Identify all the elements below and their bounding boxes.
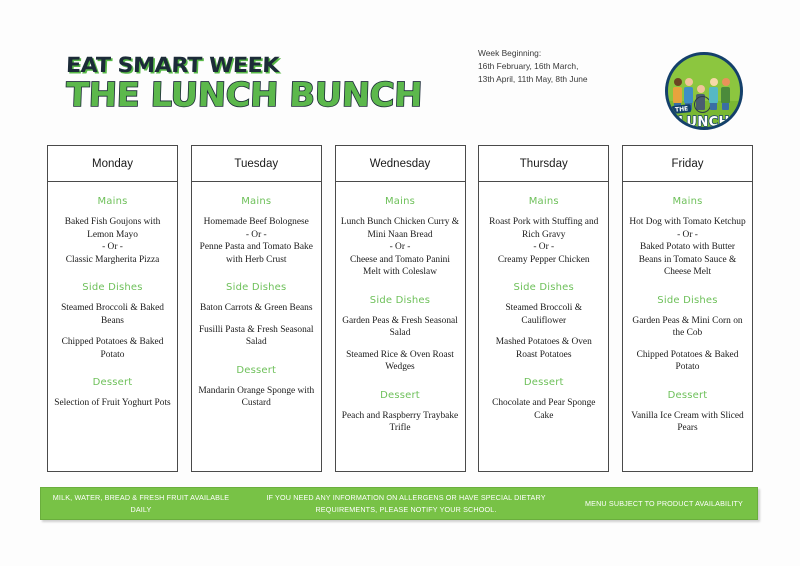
day-header-thursday: Thursday xyxy=(479,146,608,182)
or-separator: - Or - xyxy=(246,230,267,240)
main-dish-1-text: Homemade Beef Bolognese xyxy=(204,217,309,227)
main-dish-1-text: Hot Dog with Tomato Ketchup xyxy=(629,217,745,227)
dessert-item-1: Peach and Raspberry Traybake Trifle xyxy=(341,410,460,435)
side-dish-1: Garden Peas & Fresh Seasonal Salad xyxy=(341,315,460,340)
main-dish-2-text: Classic Margherita Pizza xyxy=(66,255,160,265)
main-dish-2-text: Creamy Pepper Chicken xyxy=(498,255,590,265)
day-header-monday: Monday xyxy=(48,146,177,182)
main-dish-option-1: Hot Dog with Tomato Ketchup - Or - Baked… xyxy=(628,216,747,279)
section-heading-sides: Side Dishes xyxy=(197,282,316,293)
or-separator: - Or - xyxy=(390,242,411,252)
or-separator: - Or - xyxy=(677,230,698,240)
section-heading-mains: Mains xyxy=(341,196,460,207)
day-body-friday: Mains Hot Dog with Tomato Ketchup - Or -… xyxy=(623,182,752,471)
day-header-wednesday: Wednesday xyxy=(336,146,465,182)
side-dish-2: Chipped Potatoes & Baked Potato xyxy=(53,336,172,361)
day-column-thursday: Thursday Mains Roast Pork with Stuffing … xyxy=(478,145,609,472)
section-heading-dessert: Dessert xyxy=(341,390,460,401)
main-dish-option-1: Lunch Bunch Chicken Curry & Mini Naan Br… xyxy=(341,216,460,279)
main-dish-1-text: Lunch Bunch Chicken Curry & Mini Naan Br… xyxy=(341,217,459,240)
day-name-tuesday: Tuesday xyxy=(234,158,278,170)
section-heading-sides: Side Dishes xyxy=(484,282,603,293)
lunch-bunch-logo: THE LUNCH BUNCH SCHOOL CATERING xyxy=(663,52,745,134)
page-header: EAT SMART WEEK THE LUNCH BUNCH Week Begi… xyxy=(0,0,800,140)
side-dish-1: Garden Peas & Mini Corn on the Cob xyxy=(628,315,747,340)
dessert-item-1: Mandarin Orange Sponge with Custard xyxy=(197,385,316,410)
main-dish-option-1: Baked Fish Goujons with Lemon Mayo - Or … xyxy=(53,216,172,266)
section-heading-mains: Mains xyxy=(53,196,172,207)
section-heading-sides: Side Dishes xyxy=(341,295,460,306)
side-dish-2: Steamed Rice & Oven Roast Wedges xyxy=(341,349,460,374)
day-name-monday: Monday xyxy=(92,158,133,170)
day-name-friday: Friday xyxy=(672,158,704,170)
eat-smart-week-title: EAT SMART WEEK xyxy=(66,55,433,76)
logo-wordmark: THE LUNCH BUNCH SCHOOL CATERING xyxy=(668,97,740,130)
section-heading-mains: Mains xyxy=(484,196,603,207)
main-dish-1-text: Roast Pork with Stuffing and Rich Gravy xyxy=(489,217,598,240)
weekly-menu-grid: Monday Mains Baked Fish Goujons with Lem… xyxy=(47,145,753,472)
footer-banner: MILK, WATER, BREAD & FRESH FRUIT AVAILAB… xyxy=(40,487,758,520)
main-dish-2-text: Penne Pasta and Tomato Bake with Herb Cr… xyxy=(200,242,313,265)
section-heading-dessert: Dessert xyxy=(628,390,747,401)
day-name-wednesday: Wednesday xyxy=(370,158,431,170)
week-dates-line-1: 16th February, 16th March, xyxy=(478,60,588,73)
section-heading-sides: Side Dishes xyxy=(628,295,747,306)
week-dates-line-2: 13th April, 11th May, 8th June xyxy=(478,73,588,86)
section-heading-sides: Side Dishes xyxy=(53,282,172,293)
week-beginning-block: Week Beginning: 16th February, 16th Marc… xyxy=(478,47,588,85)
child-head xyxy=(685,78,693,86)
day-body-tuesday: Mains Homemade Beef Bolognese - Or - Pen… xyxy=(192,182,321,471)
side-dish-1: Baton Carrots & Green Beans xyxy=(197,302,316,315)
day-body-thursday: Mains Roast Pork with Stuffing and Rich … xyxy=(479,182,608,471)
section-heading-dessert: Dessert xyxy=(53,377,172,388)
dessert-item-1: Vanilla Ice Cream with Sliced Pears xyxy=(628,410,747,435)
side-dish-1: Steamed Broccoli & Baked Beans xyxy=(53,302,172,327)
side-dish-2: Chipped Potatoes & Baked Potato xyxy=(628,349,747,374)
main-dish-option-1: Homemade Beef Bolognese - Or - Penne Pas… xyxy=(197,216,316,266)
logo-disc: THE LUNCH BUNCH SCHOOL CATERING xyxy=(665,52,743,130)
side-dish-2: Fusilli Pasta & Fresh Seasonal Salad xyxy=(197,324,316,349)
main-dish-1-text: Baked Fish Goujons with Lemon Mayo xyxy=(65,217,161,240)
day-column-wednesday: Wednesday Mains Lunch Bunch Chicken Curr… xyxy=(335,145,466,472)
day-column-monday: Monday Mains Baked Fish Goujons with Lem… xyxy=(47,145,178,472)
footer-availability-note: MENU SUBJECT TO PRODUCT AVAILABILITY xyxy=(571,498,757,509)
side-dish-2: Mashed Potatoes & Oven Roast Potatoes xyxy=(484,336,603,361)
child-head xyxy=(697,85,705,93)
main-dish-2-text: Cheese and Tomato Panini Melt with Coles… xyxy=(350,255,450,278)
main-dish-2-text: Baked Potato with Butter Beans in Tomato… xyxy=(639,242,737,277)
section-heading-mains: Mains xyxy=(197,196,316,207)
section-heading-mains: Mains xyxy=(628,196,747,207)
logo-the-text: THE xyxy=(672,104,692,114)
or-separator: - Or - xyxy=(533,242,554,252)
day-body-monday: Mains Baked Fish Goujons with Lemon Mayo… xyxy=(48,182,177,471)
footer-allergen-note: IF YOU NEED ANY INFORMATION ON ALLERGENS… xyxy=(241,492,571,514)
section-heading-dessert: Dessert xyxy=(484,377,603,388)
week-beginning-label: Week Beginning: xyxy=(478,47,588,60)
title-block: EAT SMART WEEK THE LUNCH BUNCH xyxy=(66,55,412,114)
day-header-tuesday: Tuesday xyxy=(192,146,321,182)
main-dish-option-1: Roast Pork with Stuffing and Rich Gravy … xyxy=(484,216,603,266)
or-separator: - Or - xyxy=(102,242,123,252)
side-dish-1: Steamed Broccoli & Cauliflower xyxy=(484,302,603,327)
lunch-bunch-title: THE LUNCH BUNCH xyxy=(65,77,422,114)
child-head xyxy=(674,78,682,86)
child-head xyxy=(722,78,730,86)
dessert-item-1: Selection of Fruit Yoghurt Pots xyxy=(53,397,172,410)
day-body-wednesday: Mains Lunch Bunch Chicken Curry & Mini N… xyxy=(336,182,465,471)
day-header-friday: Friday xyxy=(623,146,752,182)
day-column-tuesday: Tuesday Mains Homemade Beef Bolognese - … xyxy=(191,145,322,472)
footer-daily-items-note: MILK, WATER, BREAD & FRESH FRUIT AVAILAB… xyxy=(41,492,241,514)
logo-lunch-text: LUNCH xyxy=(668,116,740,129)
child-head xyxy=(710,78,718,86)
day-name-thursday: Thursday xyxy=(520,158,568,170)
day-column-friday: Friday Mains Hot Dog with Tomato Ketchup… xyxy=(622,145,753,472)
dessert-item-1: Chocolate and Pear Sponge Cake xyxy=(484,397,603,422)
section-heading-dessert: Dessert xyxy=(197,365,316,376)
menu-page: EAT SMART WEEK THE LUNCH BUNCH Week Begi… xyxy=(0,0,800,566)
